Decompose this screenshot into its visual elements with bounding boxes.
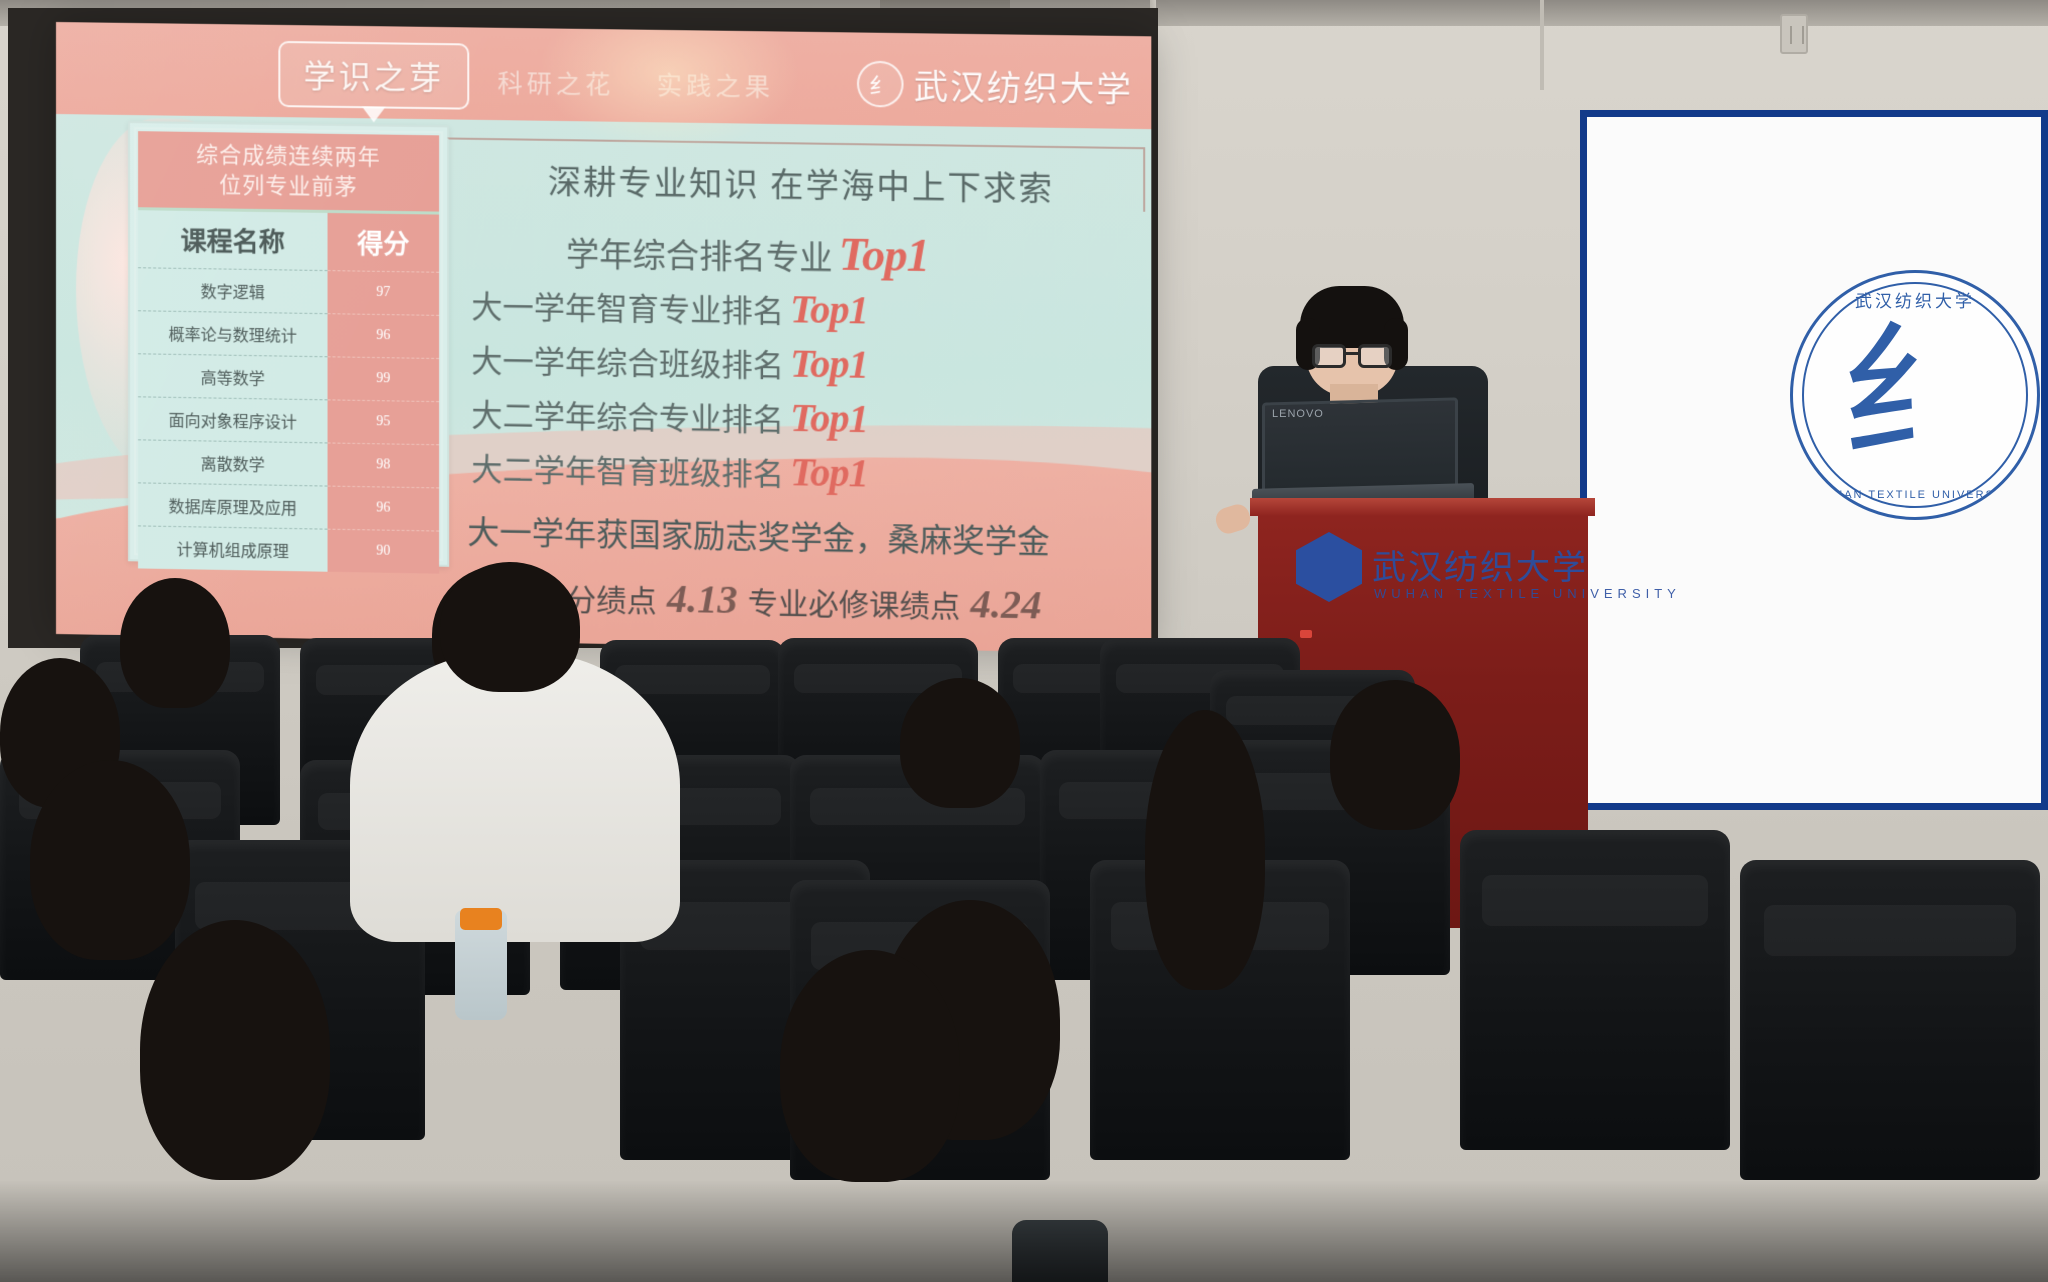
grade-score-cell: 99 bbox=[328, 357, 440, 402]
ranking-label-5: 大二学年智育班级排名 bbox=[471, 444, 784, 494]
grade-score-cell: 95 bbox=[328, 400, 440, 445]
table-row: 面向对象程序设计95 bbox=[138, 397, 439, 445]
bottle-cap bbox=[460, 908, 502, 930]
university-logo-icon: 纟 bbox=[857, 60, 904, 107]
ranking-line-1: 学年综合排名专业 Top1 bbox=[566, 223, 929, 282]
ranking-badge-5: Top1 bbox=[790, 448, 868, 497]
grade-course-cell: 高等数学 bbox=[138, 354, 327, 400]
grades-card-inner: 综合成绩连续两年 位列专业前茅 课程名称 得分 数字逻辑97概率论与数理统计96… bbox=[134, 127, 443, 561]
chair bbox=[1740, 860, 2040, 1180]
table-row: 离散数学98 bbox=[138, 440, 439, 488]
seal-ring bbox=[1802, 282, 2028, 508]
audience-head bbox=[30, 760, 190, 960]
slide-header: 学识之芽 科研之花 实践之果 纟 武汉纺织大学 bbox=[56, 22, 1151, 135]
speaker-glasses-left-lens bbox=[1312, 344, 1346, 368]
ranking-line-3: 大一学年综合班级排名 Top1 bbox=[471, 334, 868, 387]
grade-course-cell: 面向对象程序设计 bbox=[138, 397, 327, 443]
ranking-label-3: 大一学年综合班级排名 bbox=[471, 335, 784, 385]
slide-right-title: 深耕专业知识 在学海中上下求索 bbox=[548, 155, 1054, 211]
grade-course-cell: 数据库原理及应用 bbox=[138, 483, 327, 529]
grade-course-cell: 离散数学 bbox=[138, 440, 327, 486]
wall-outlet bbox=[1780, 14, 1808, 54]
ranking-label-4: 大二学年综合专业排名 bbox=[471, 390, 784, 440]
audience-head bbox=[440, 562, 580, 692]
ranking-label-1: 学年综合排名专业 bbox=[566, 227, 833, 279]
seal-name-en: WUHAN TEXTILE UNIVERSITY bbox=[1793, 489, 2037, 501]
grades-table: 课程名称 得分 数字逻辑97概率论与数理统计96高等数学99面向对象程序设计95… bbox=[138, 210, 439, 573]
wall-seam-secondary bbox=[1540, 0, 1544, 90]
ranking-badge-4: Top1 bbox=[790, 394, 868, 443]
ranking-badge-3: Top1 bbox=[790, 339, 868, 388]
audience-area bbox=[0, 560, 2048, 1282]
chair bbox=[1460, 830, 1730, 1150]
table-row: 高等数学99 bbox=[138, 354, 439, 402]
audience-person-hoodie bbox=[350, 652, 680, 942]
audience-head bbox=[1330, 680, 1460, 830]
seal-name-cn: 武汉纺织大学 bbox=[1793, 287, 2037, 312]
audience-head bbox=[120, 578, 230, 708]
speaker-glasses-right-lens bbox=[1358, 344, 1392, 368]
screenshot-root: 学识之芽 科研之花 实践之果 纟 武汉纺织大学 综合成绩连续两年 位列专业前茅 bbox=[0, 0, 2048, 1282]
ranking-label-2: 大一学年智育专业排名 bbox=[471, 281, 784, 331]
header-pill-badge: 学识之芽 bbox=[278, 41, 469, 110]
grades-col-score: 得分 bbox=[328, 213, 440, 272]
grade-score-cell: 98 bbox=[328, 443, 440, 488]
foreground-shadow bbox=[0, 1180, 2048, 1282]
laptop-brand-label: LENOVO bbox=[1272, 408, 1324, 420]
podium-top-edge bbox=[1250, 498, 1595, 516]
ranking-badge-1: Top1 bbox=[839, 227, 929, 282]
grades-col-course: 课程名称 bbox=[138, 210, 327, 270]
table-row: 数字逻辑97 bbox=[138, 268, 439, 316]
ranking-line-4: 大二学年综合专业排名 Top1 bbox=[471, 389, 868, 443]
grade-course-cell: 数字逻辑 bbox=[138, 268, 327, 314]
ranking-line-5: 大二学年智育班级排名 Top1 bbox=[471, 443, 868, 497]
grade-score-cell: 97 bbox=[328, 271, 440, 316]
university-name: 武汉纺织大学 bbox=[914, 59, 1133, 111]
audience-head bbox=[1145, 710, 1265, 990]
grades-table-body: 数字逻辑97概率论与数理统计96高等数学99面向对象程序设计95离散数学98数据… bbox=[138, 268, 439, 574]
table-row: 数据库原理及应用96 bbox=[138, 483, 439, 531]
header-item-research: 科研之花 bbox=[497, 64, 614, 102]
header-pill-label: 学识之芽 bbox=[303, 51, 444, 99]
speaker-glasses-bridge bbox=[1346, 352, 1358, 355]
banner-university-seal: 武汉纺织大学 纟 WUHAN TEXTILE UNIVERSITY bbox=[1790, 270, 2040, 520]
grade-score-cell: 96 bbox=[328, 486, 440, 531]
projection-screen: 学识之芽 科研之花 实践之果 纟 武汉纺织大学 综合成绩连续两年 位列专业前茅 bbox=[56, 22, 1151, 654]
audience-head bbox=[140, 920, 330, 1180]
grade-score-cell: 96 bbox=[328, 314, 440, 359]
ranking-badge-2: Top1 bbox=[790, 285, 868, 333]
grades-title-line1: 综合成绩连续两年 bbox=[142, 139, 435, 173]
presentation-slide: 学识之芽 科研之花 实践之果 纟 武汉纺织大学 综合成绩连续两年 位列专业前茅 bbox=[56, 22, 1151, 654]
grades-card: 综合成绩连续两年 位列专业前茅 课程名称 得分 数字逻辑97概率论与数理统计96… bbox=[128, 121, 449, 567]
audience-head bbox=[900, 678, 1020, 808]
ranking-line-2: 大一学年智育专业排名 Top1 bbox=[471, 280, 868, 333]
grade-course-cell: 概率论与数理统计 bbox=[138, 311, 327, 357]
grades-table-header-row: 课程名称 得分 bbox=[138, 210, 439, 272]
audience-head bbox=[780, 950, 960, 1182]
university-branding: 纟 武汉纺织大学 bbox=[857, 59, 1133, 112]
grades-card-title: 综合成绩连续两年 位列专业前茅 bbox=[138, 131, 439, 214]
table-row: 概率论与数理统计96 bbox=[138, 311, 439, 359]
header-item-practice: 实践之果 bbox=[657, 66, 774, 104]
grades-title-line2: 位列专业前茅 bbox=[142, 169, 435, 203]
